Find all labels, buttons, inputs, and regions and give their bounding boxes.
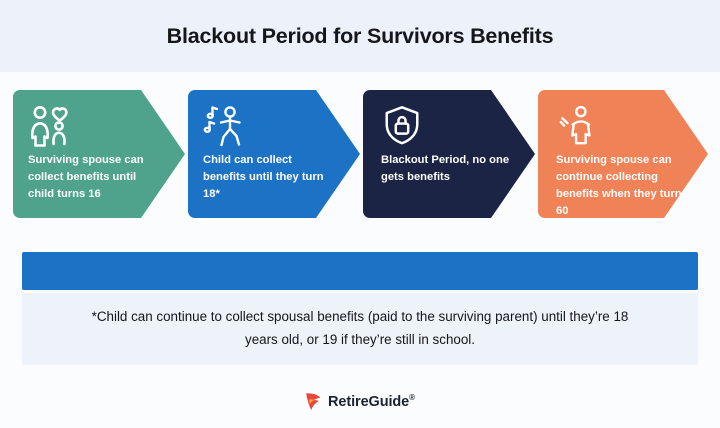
footnote-text: *Child can continue to collect spousal b… — [82, 305, 638, 351]
retireguide-logo-text: RetireGuide® — [328, 393, 415, 410]
retireguide-logo-mark — [305, 392, 322, 411]
chevron-step-1: Surviving spouse can collect benefits un… — [13, 90, 185, 218]
chevron-step-3-label: Blackout Period, no one gets benefits — [381, 152, 511, 186]
registered-mark: ® — [409, 393, 415, 402]
chevron-step-row: Surviving spouse can collect benefits un… — [0, 90, 720, 220]
retireguide-logo: RetireGuide® — [0, 388, 720, 414]
page-title: Blackout Period for Survivors Benefits — [0, 24, 720, 49]
shield-lock-icon — [381, 104, 423, 146]
dancing-child-music-icon — [203, 104, 245, 146]
chevron-step-4-label: Surviving spouse can continue collecting… — [556, 152, 686, 220]
chevron-step-2: Child can collect benefits until they tu… — [188, 90, 360, 218]
chevron-step-1-label: Surviving spouse can collect benefits un… — [28, 152, 158, 203]
logo-name: RetireGuide — [328, 393, 409, 409]
person-waving-icon — [556, 104, 598, 146]
blue-divider-bar — [22, 252, 698, 290]
chevron-step-3: Blackout Period, no one gets benefits — [363, 90, 535, 218]
infographic-root: Blackout Period for Survivors Benefits — [0, 0, 720, 428]
chevron-step-4: Surviving spouse can continue collecting… — [538, 90, 708, 218]
chevron-step-2-label: Child can collect benefits until they tu… — [203, 152, 333, 203]
footnote-panel: *Child can continue to collect spousal b… — [22, 293, 698, 365]
family-heart-icon — [28, 104, 70, 146]
